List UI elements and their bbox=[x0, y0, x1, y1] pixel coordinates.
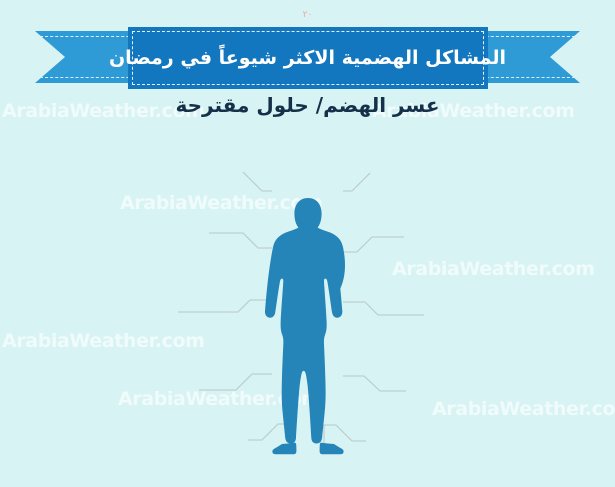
infographic-canvas: ArabiaWeather.comArabiaWeather.comArabia… bbox=[0, 0, 615, 487]
corner-numeral: ٢٠ bbox=[303, 10, 313, 20]
ribbon-center-panel: المشاكل الهضمية الاكثر شيوعاً في رمضان bbox=[128, 27, 488, 89]
subtitle-text: عسر الهضم/ حلول مقترحة bbox=[0, 93, 615, 117]
human-body-silhouette bbox=[258, 196, 358, 458]
title-banner: المشاكل الهضمية الاكثر شيوعاً في رمضان bbox=[0, 27, 615, 91]
banner-title-text: المشاكل الهضمية الاكثر شيوعاً في رمضان bbox=[109, 47, 506, 69]
